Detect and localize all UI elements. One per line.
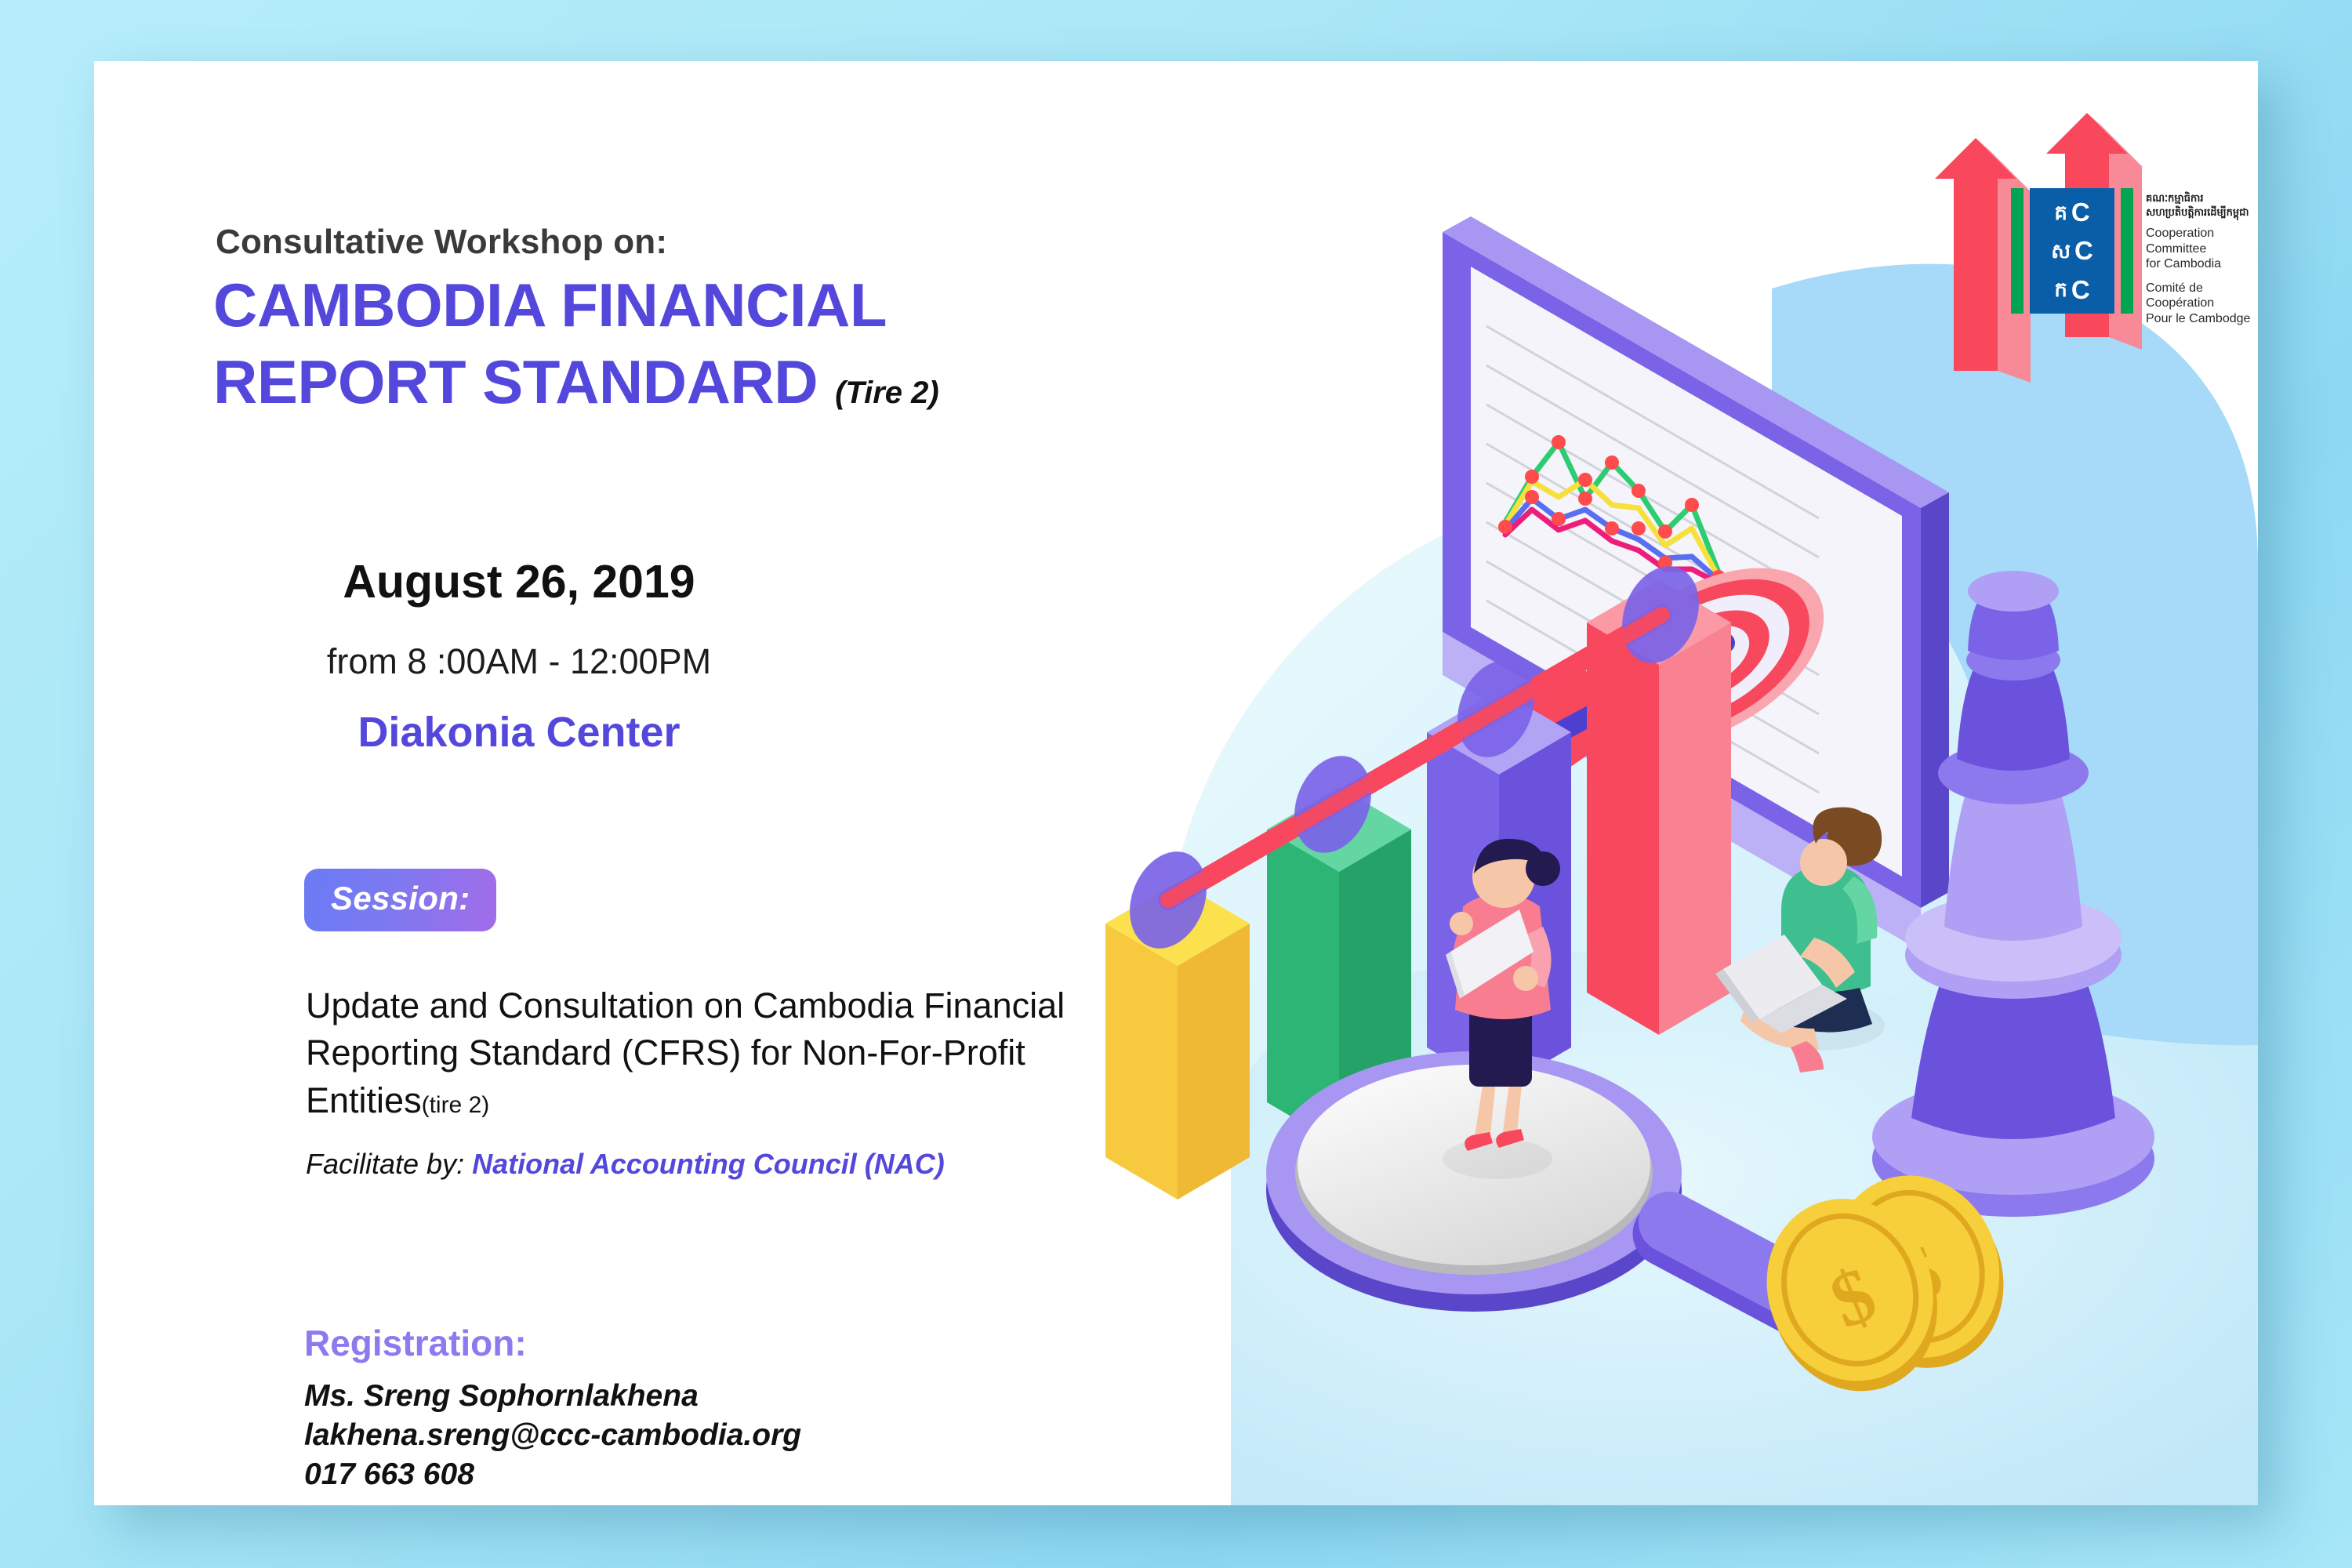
logo-letter-3: C (2071, 277, 2090, 303)
status-badge-session: Session: (304, 869, 496, 931)
logo-row-1: គ C (2030, 199, 2114, 225)
logo-khmer-line-1: គណៈកម្មាធិការ (2146, 191, 2258, 205)
title-line-2: REPORT STANDARD (213, 347, 818, 416)
registration-contact-name: Ms. Sreng Sophornlakhena (304, 1377, 801, 1416)
page-title: CAMBODIA FINANCIAL REPORT STANDARD(Tire … (213, 274, 1232, 412)
poster-kicker: Consultative Workshop on: (216, 223, 667, 262)
logo-khmer-glyph-1: គ (2054, 202, 2067, 223)
ccc-logo: គ C ស C ក C គណៈកម្មាធិការ សហប្រតិបត្ត (2011, 188, 2258, 326)
logo-green-bar-right (2121, 188, 2133, 314)
ccc-logo-mark: គ C ស C ក C (2011, 188, 2133, 314)
logo-english-line-1: Cooperation Committee (2146, 226, 2258, 256)
title-line-2-wrap: REPORT STANDARD(Tire 2) (213, 351, 1232, 412)
facilitate-label: Facilitate by: (306, 1148, 464, 1180)
poster-card: $ $ គ C (94, 61, 2258, 1505)
logo-french-line-1: Comité de Coopération (2146, 281, 2258, 311)
registration-contact-email[interactable]: lakhena.sreng@ccc-cambodia.org (304, 1416, 801, 1455)
event-venue: Diakonia Center (213, 708, 825, 757)
logo-row-2: ស C (2030, 238, 2114, 263)
logo-blue-square: គ C ស C ក C (2030, 188, 2114, 314)
ccc-logo-text: គណៈកម្មាធិការ សហប្រតិបត្តិការដើម្បីកម្ពុ… (2146, 188, 2258, 326)
session-description-text: Update and Consultation on Cambodia Fina… (306, 985, 1065, 1120)
logo-khmer-line-2: សហប្រតិបត្តិការដើម្បីកម្ពុជា (2146, 205, 2258, 220)
logo-row-3: ក C (2030, 277, 2114, 303)
logo-letter-1: C (2071, 199, 2090, 225)
registration-contact-phone[interactable]: 017 663 608 (304, 1455, 801, 1494)
session-description-suffix: (tire 2) (422, 1092, 490, 1118)
session-facilitator-line: Facilitate by: National Accounting Counc… (306, 1148, 945, 1181)
title-tier-note: (Tire 2) (835, 376, 939, 410)
logo-letter-2: C (2074, 238, 2093, 263)
title-line-1: CAMBODIA FINANCIAL (213, 270, 887, 339)
logo-khmer-glyph-2: ស (2051, 241, 2071, 261)
logo-green-bar-left (2011, 188, 2024, 314)
event-date: August 26, 2019 (213, 555, 825, 608)
logo-french-line-2: Pour le Cambodge (2146, 311, 2258, 327)
logo-khmer-glyph-3: ក (2054, 279, 2067, 299)
facilitator-name: National Accounting Council (NAC) (472, 1148, 945, 1180)
poster-root: $ $ គ C (0, 0, 2352, 1568)
registration-details: Ms. Sreng Sophornlakhena lakhena.sreng@c… (304, 1377, 801, 1494)
logo-english-line-2: for Cambodia (2146, 256, 2258, 272)
registration-heading: Registration: (304, 1322, 527, 1364)
session-description: Update and Consultation on Cambodia Fina… (306, 982, 1137, 1124)
event-time: from 8 :00AM - 12:00PM (213, 641, 825, 682)
